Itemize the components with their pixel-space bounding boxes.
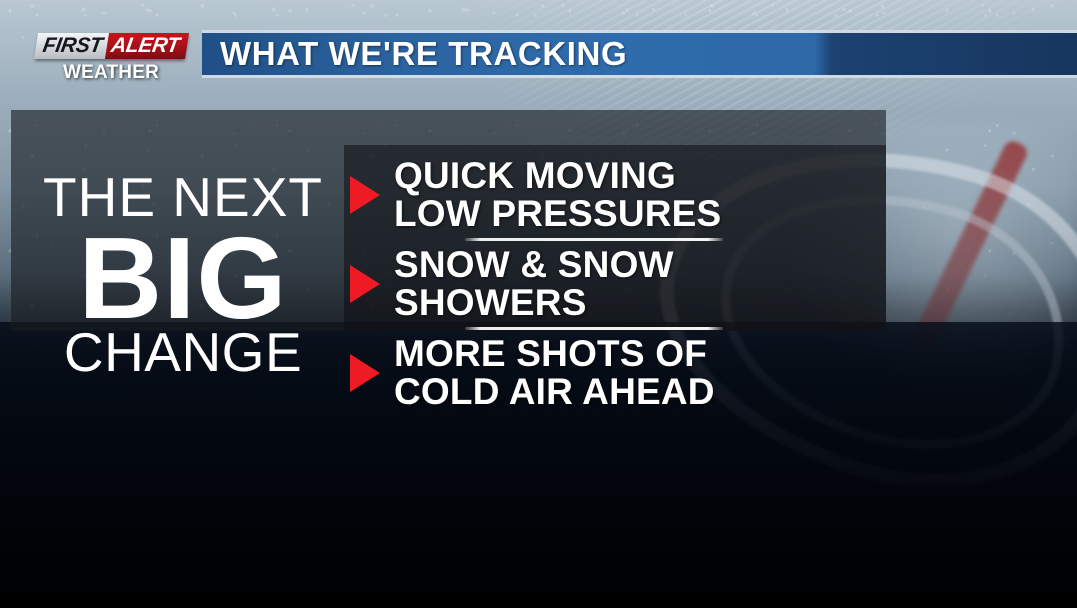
first-alert-weather-logo: FIRST ALERT WEATHER: [36, 33, 186, 84]
red-triangle-bullet-icon: [350, 176, 380, 214]
headline-block: THE NEXT BIG CHANGE: [18, 172, 348, 378]
list-item-text: SNOW & SNOW SHOWERS: [394, 246, 674, 321]
list-item-line-2: SHOWERS: [394, 284, 674, 322]
bullet-marker: [344, 265, 386, 303]
header-bar: WHAT WE'RE TRACKING: [202, 30, 1077, 78]
logo-weather-text: WEATHER: [36, 62, 186, 84]
logo-first-text: FIRST: [34, 33, 109, 59]
list-item-text: QUICK MOVING LOW PRESSURES: [394, 157, 721, 232]
list-item: SNOW & SNOW SHOWERS: [344, 241, 904, 327]
weather-graphic-screen: FIRST ALERT WEATHER WHAT WE'RE TRACKING …: [0, 0, 1077, 608]
headline-line-3: CHANGE: [18, 327, 348, 378]
list-item-line-1: SNOW & SNOW: [394, 246, 674, 284]
tracking-bullet-list: QUICK MOVING LOW PRESSURES SNOW & SNOW S…: [344, 152, 904, 416]
list-item: MORE SHOTS OF COLD AIR AHEAD: [344, 330, 904, 416]
bullet-marker: [344, 354, 386, 392]
red-triangle-bullet-icon: [350, 354, 380, 392]
list-item: QUICK MOVING LOW PRESSURES: [344, 152, 904, 238]
list-item-line-2: LOW PRESSURES: [394, 195, 721, 233]
list-item-text: MORE SHOTS OF COLD AIR AHEAD: [394, 335, 715, 410]
red-triangle-bullet-icon: [350, 265, 380, 303]
logo-wordmark-row: FIRST ALERT: [34, 33, 188, 59]
bullet-marker: [344, 176, 386, 214]
list-item-line-1: QUICK MOVING: [394, 157, 721, 195]
headline-line-2: BIG: [18, 225, 348, 332]
list-item-line-1: MORE SHOTS OF: [394, 335, 715, 373]
list-item-line-2: COLD AIR AHEAD: [394, 373, 715, 411]
logo-alert-text: ALERT: [105, 33, 189, 59]
page-title: WHAT WE'RE TRACKING: [202, 35, 627, 73]
